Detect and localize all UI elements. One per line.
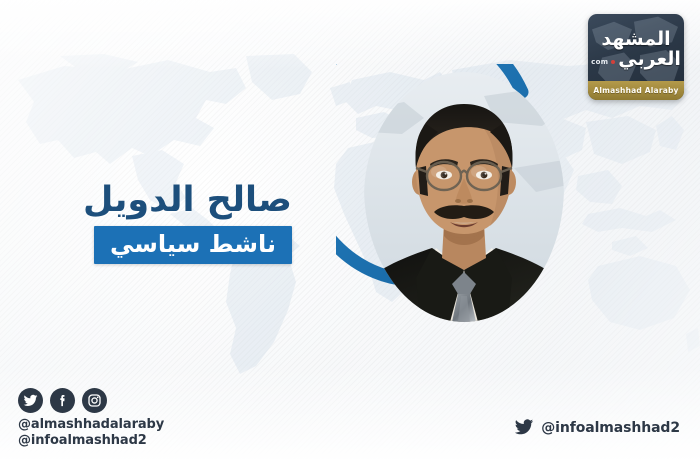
social-block: @almashhadalaraby @infoalmashhad2 [18, 388, 164, 450]
social-handle-primary[interactable]: @almashhadalaraby [18, 417, 164, 433]
logo-latin-bar: Almashhad Alaraby [588, 81, 684, 100]
twitter-bird-icon [514, 417, 534, 441]
instagram-icon[interactable] [82, 388, 107, 413]
name-block: صالح الدويل ناشط سياسي [83, 182, 292, 264]
logo-red-dot-icon [611, 60, 615, 64]
facebook-icon[interactable] [50, 388, 75, 413]
logo-arabic-line1: المشهد [601, 30, 670, 49]
social-icon-row [18, 388, 164, 413]
portrait-container [336, 64, 594, 336]
logo-latin-text: Almashhad Alaraby [593, 86, 678, 95]
profile-card: المشهد العربي com Almashhad Alaraby [0, 0, 700, 459]
person-title-banner: ناشط سياسي [94, 226, 292, 264]
logo-arabic-line2: العربي [618, 50, 681, 69]
channel-logo[interactable]: المشهد العربي com Almashhad Alaraby [588, 14, 684, 100]
footer-twitter-block[interactable]: @infoalmashhad2 [514, 417, 680, 441]
social-handle-secondary[interactable]: @infoalmashhad2 [18, 433, 164, 449]
person-title: ناشط سياسي [110, 230, 276, 258]
twitter-icon[interactable] [18, 388, 43, 413]
person-name: صالح الدويل [83, 182, 292, 219]
footer-twitter-handle[interactable]: @infoalmashhad2 [541, 420, 680, 438]
logo-wordmark: المشهد العربي com [588, 14, 684, 81]
